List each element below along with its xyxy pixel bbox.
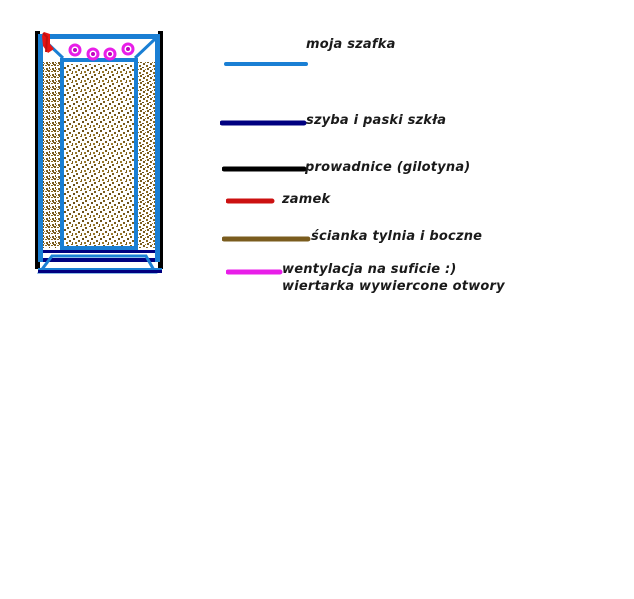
legend-label-zamek: zamek <box>282 192 330 207</box>
frame-right-post <box>155 34 160 262</box>
legend-swatch-scianka <box>222 234 312 243</box>
legend-label-moja-szafka: moja szafka <box>306 37 396 52</box>
vent-hole-icon <box>73 48 77 52</box>
glass-strip-upper <box>43 250 155 253</box>
legend-swatch-prowadnice <box>222 164 308 173</box>
frame-top <box>38 34 160 39</box>
legend-label-szyba: szyba i paski szkła <box>306 113 446 128</box>
base-bar-highlight <box>38 268 162 270</box>
vent-hole-icon <box>91 52 95 56</box>
opening-top <box>60 58 138 62</box>
legend-swatch-wentylacja <box>226 267 284 276</box>
legend-label-wentylacja: wentylacja na suficie :) <box>282 262 457 277</box>
opening-left <box>60 58 64 250</box>
side-wall-left <box>43 60 60 248</box>
back-wall <box>63 64 135 248</box>
opening-bottom <box>60 246 138 250</box>
legend-swatch-moja-szafka <box>224 60 310 68</box>
side-wall-right <box>138 60 155 248</box>
legend-swatch-zamek <box>226 196 276 205</box>
legend: moja szafka szyba i paski szkła prowadni… <box>214 30 614 315</box>
cabinet-drawing <box>30 28 170 276</box>
legend-swatch-szyba <box>220 118 308 127</box>
legend-label-wentylacja-sub: wiertarka wywiercone otwory <box>282 279 505 294</box>
legend-label-prowadnice: prowadnice (gilotyna) <box>305 160 470 175</box>
cabinet-svg <box>30 28 170 276</box>
vent-hole-icon <box>108 52 112 56</box>
frame-left-post <box>38 34 43 262</box>
glass-strip-lower <box>43 258 155 262</box>
legend-label-scianka: ścianka tylnia i boczne <box>311 229 482 244</box>
vent-hole-icon <box>126 47 130 51</box>
opening-right <box>134 58 138 250</box>
